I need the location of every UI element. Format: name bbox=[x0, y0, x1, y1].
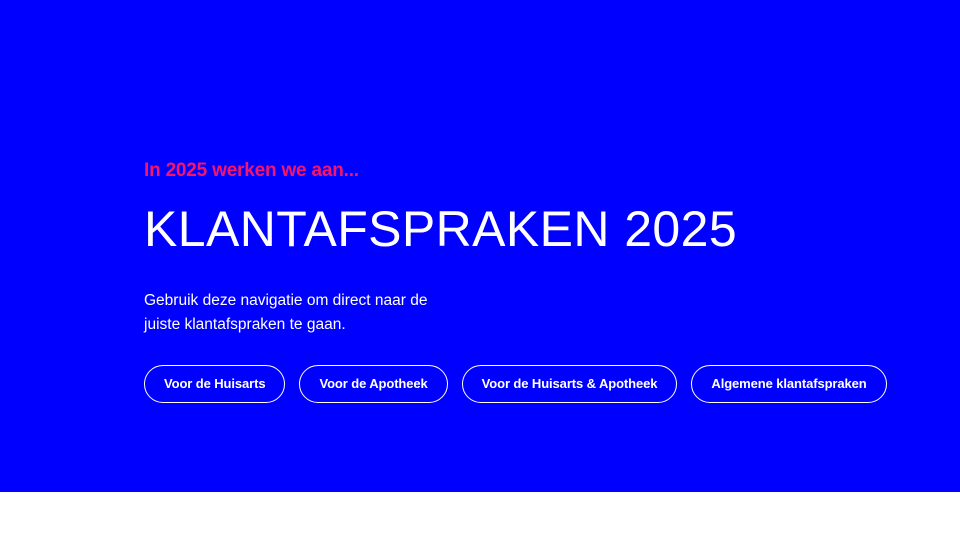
hero-eyebrow: In 2025 werken we aan... bbox=[144, 160, 904, 182]
page-root: In 2025 werken we aan... KLANTAFSPRAKEN … bbox=[0, 0, 960, 540]
bottom-white-band bbox=[0, 492, 960, 540]
nav-button-voor-de-apotheek[interactable]: Voor de Apotheek bbox=[299, 365, 447, 403]
nav-button-voor-de-huisarts-en-apotheek[interactable]: Voor de Huisarts & Apotheek bbox=[462, 365, 678, 403]
hero-section: In 2025 werken we aan... KLANTAFSPRAKEN … bbox=[0, 0, 960, 492]
hero-description-line-2: juiste klantafspraken te gaan. bbox=[144, 313, 484, 337]
navigation-button-row: Voor de Huisarts Voor de Apotheek Voor d… bbox=[144, 365, 904, 403]
hero-description-line-1: Gebruik deze navigatie om direct naar de bbox=[144, 289, 484, 313]
hero-content: In 2025 werken we aan... KLANTAFSPRAKEN … bbox=[144, 160, 904, 403]
nav-button-voor-de-huisarts[interactable]: Voor de Huisarts bbox=[144, 365, 285, 403]
hero-description: Gebruik deze navigatie om direct naar de… bbox=[144, 289, 484, 337]
nav-button-algemene-klantafspraken[interactable]: Algemene klantafspraken bbox=[691, 365, 886, 403]
page-title: KLANTAFSPRAKEN 2025 bbox=[144, 202, 904, 256]
